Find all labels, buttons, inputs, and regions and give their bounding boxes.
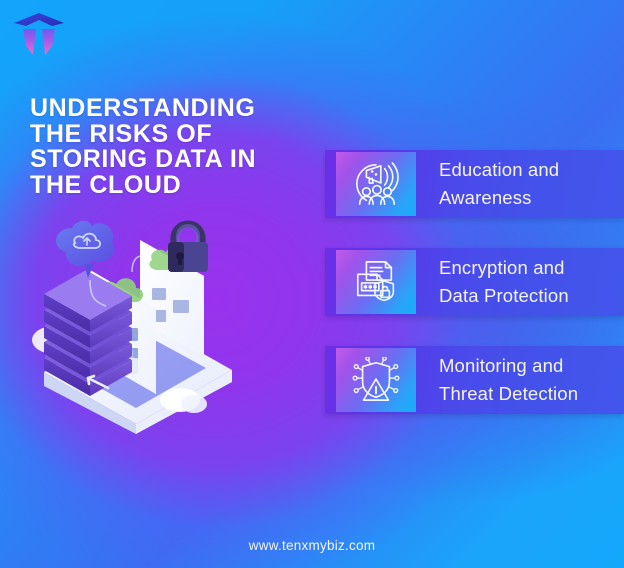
card-label-monitoring-and-threat-detection: Monitoring and Threat Detection: [439, 352, 578, 408]
card-label-education-and-awareness: Education and Awareness: [439, 156, 559, 212]
title-line-2: THE RISKS OF: [30, 122, 320, 148]
encrypted-documents-shield-lock-icon: [336, 250, 416, 314]
cloud-upload-bubble-icon: [56, 221, 114, 278]
card3-line2: Threat Detection: [439, 380, 578, 408]
tenx-t-logo-icon: [12, 10, 66, 58]
title-line-4: THE CLOUD: [30, 173, 320, 199]
infographic-poster: UNDERSTANDING THE RISKS OF STORING DATA …: [0, 0, 624, 568]
card-education-and-awareness[interactable]: Education and Awareness: [325, 150, 624, 218]
card-label-encryption-and-data-protection: Encryption and Data Protection: [439, 254, 569, 310]
shield-circuit-alert-icon: [336, 348, 416, 412]
card2-line2: Data Protection: [439, 282, 569, 310]
card-monitoring-and-threat-detection[interactable]: Monitoring and Threat Detection: [325, 346, 624, 414]
title-line-3: STORING DATA IN: [30, 147, 320, 173]
risk-mitigation-card-list: Education and Awareness: [325, 150, 624, 414]
title-line-1: UNDERSTANDING: [30, 96, 320, 122]
cloud-data-storage-isometric-illustration: [28, 212, 248, 434]
megaphone-audience-icon: [336, 152, 416, 216]
padlock-icon: [168, 224, 208, 272]
card2-line1: Encryption and: [439, 254, 569, 282]
card-encryption-and-data-protection[interactable]: Encryption and Data Protection: [325, 248, 624, 316]
footer-website-url[interactable]: www.tenxmybiz.com: [0, 538, 624, 553]
card1-line1: Education and: [439, 156, 559, 184]
page-title: UNDERSTANDING THE RISKS OF STORING DATA …: [30, 96, 320, 198]
card1-line2: Awareness: [439, 184, 559, 212]
card3-line1: Monitoring and: [439, 352, 578, 380]
